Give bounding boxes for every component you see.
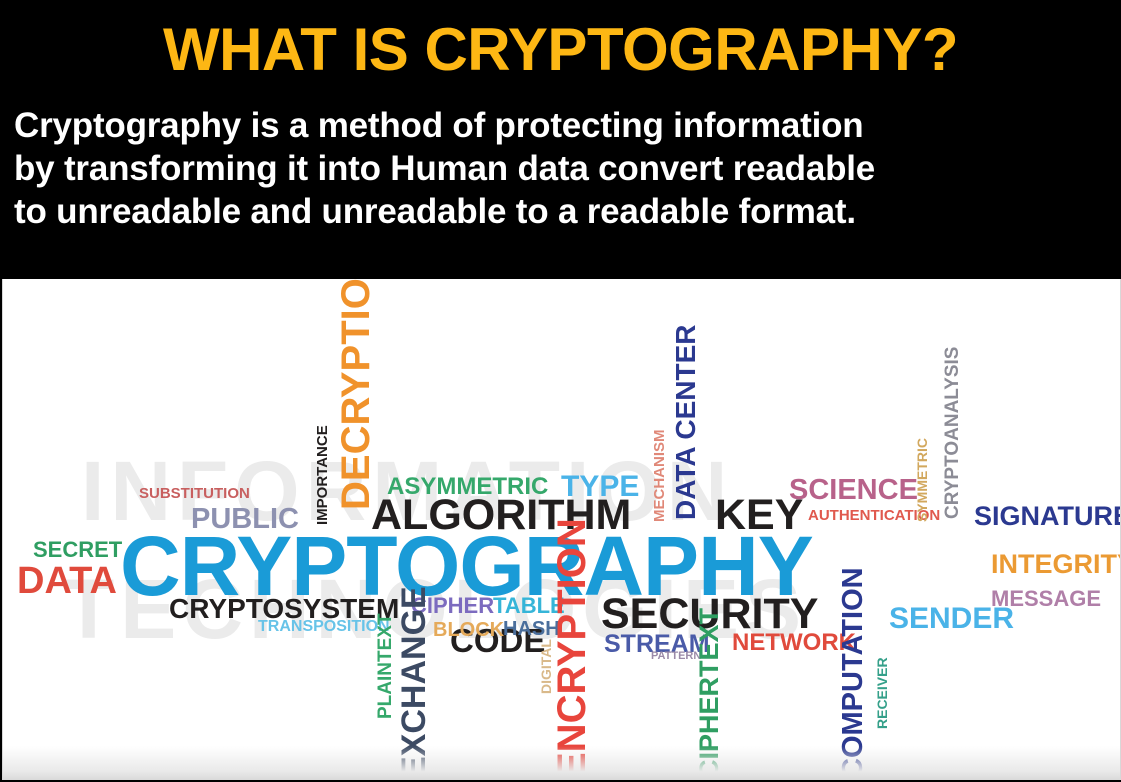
cloud-word: PUBLIC (191, 505, 299, 534)
cloud-word: ASYMMETRIC (387, 475, 548, 499)
cloud-word: DECRYPTION (336, 279, 376, 510)
cloud-word: RECEIVER (875, 657, 889, 729)
cloud-word: SCIENCE (789, 476, 918, 505)
page-title: WHAT IS CRYPTOGRAPHY? (0, 20, 1121, 80)
cloud-word: COMPUTATION (839, 567, 868, 779)
cloud-word: MESSAGE (991, 588, 1101, 610)
cloud-word: CRYPTOANALYSIS (943, 347, 962, 519)
cloud-word: CIPHERTEXT (696, 608, 723, 779)
cloud-word: ENCRYPTION (552, 518, 592, 779)
cloud-word: TRANSPOSITION (258, 619, 390, 635)
cloud-word: SIGNATURE (974, 503, 1121, 530)
slide-root: WHAT IS CRYPTOGRAPHY? Cryptography is a … (0, 0, 1121, 782)
word-cloud-image: INFORMATIONTECHNOLOGIESCRYPTOGRAPHYALGOR… (2, 279, 1121, 780)
cloud-word: IMPORTANCE (315, 425, 330, 525)
cloud-word: SECRET (33, 539, 122, 561)
cloud-word: SUBSTITUTION (139, 486, 250, 501)
cloud-word: EXCHANGE (397, 586, 431, 779)
header-band: WHAT IS CRYPTOGRAPHY? Cryptography is a … (0, 0, 1121, 277)
subtitle-line-1: Cryptography is a method of protecting i… (14, 104, 1107, 147)
cloud-word: PLAINTEXT (376, 613, 395, 719)
page-subtitle: Cryptography is a method of protecting i… (14, 104, 1107, 233)
cloud-word: DATA (17, 562, 117, 600)
subtitle-line-2: by transforming it into Human data conve… (14, 147, 1107, 190)
cloud-word: MECHANISM (652, 430, 667, 523)
word-cloud-canvas: INFORMATIONTECHNOLOGIESCRYPTOGRAPHYALGOR… (3, 279, 1120, 780)
cloud-word: BLOCK (433, 620, 504, 640)
cloud-word: DATA CENTER (672, 325, 700, 520)
cloud-word: INTEGRITY (991, 551, 1121, 578)
cloud-word: DIGITAL (539, 639, 553, 694)
subtitle-line-3: to unreadable and unreadable to a readab… (14, 190, 1107, 233)
cloud-word: TYPE (561, 472, 639, 502)
cloud-word: SYMMETRIC (915, 438, 929, 522)
